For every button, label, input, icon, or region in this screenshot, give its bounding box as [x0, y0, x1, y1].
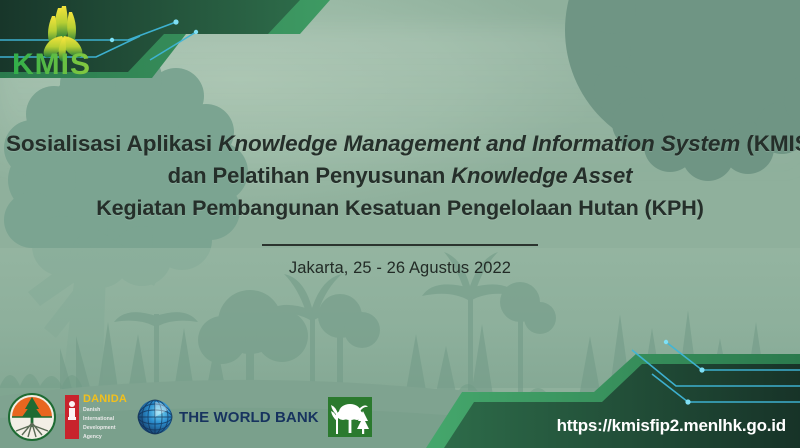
forestry-tree-logo [328, 397, 372, 437]
title-line2-italic: Knowledge Asset [451, 163, 632, 188]
klhk-logo [8, 393, 56, 441]
website-url[interactable]: https://kmisfip2.menlhk.go.id [557, 416, 786, 436]
title-line-1: Sosialisasi Aplikasi Knowledge Managemen… [6, 128, 794, 160]
danida-logo: DANIDA Danish International Development … [65, 394, 127, 440]
title-line-3: Kegiatan Pembangunan Kesatuan Pengelolaa… [6, 192, 794, 224]
slide-banner: KMIS Sosialisasi Aplikasi Knowledge Mana… [0, 0, 800, 448]
title-block: Sosialisasi Aplikasi Knowledge Managemen… [0, 128, 800, 278]
danida-sub-2: International [83, 416, 127, 423]
title-line1-part1: Sosialisasi Aplikasi [6, 131, 218, 156]
world-bank-text: THE WORLD BANK [179, 409, 319, 426]
danida-sub-1: Danish [83, 407, 127, 414]
danida-text-block: DANIDA Danish International Development … [83, 394, 127, 441]
globe-icon [136, 398, 174, 436]
divider-wrap [6, 244, 794, 246]
place-date: Jakarta, 25 - 26 Agustus 2022 [6, 259, 794, 278]
partner-logo-row: DANIDA Danish International Development … [8, 390, 372, 444]
kmis-logo: KMIS [6, 2, 126, 80]
danida-sub-3: Development [83, 425, 127, 432]
title-line1-part2: (KMIS) [740, 131, 800, 156]
title-divider [262, 244, 538, 246]
danida-crest-icon [65, 395, 79, 439]
world-bank-logo: THE WORLD BANK [136, 398, 319, 436]
title-line2-part1: dan Pelatihan Penyusunan [168, 163, 452, 188]
title-line1-italic: Knowledge Management and Information Sys… [218, 131, 740, 156]
title-line-2: dan Pelatihan Penyusunan Knowledge Asset [6, 160, 794, 192]
kmis-logo-text: KMIS [12, 48, 91, 80]
danida-title: DANIDA [83, 394, 127, 405]
danida-sub-4: Agency [83, 434, 127, 441]
